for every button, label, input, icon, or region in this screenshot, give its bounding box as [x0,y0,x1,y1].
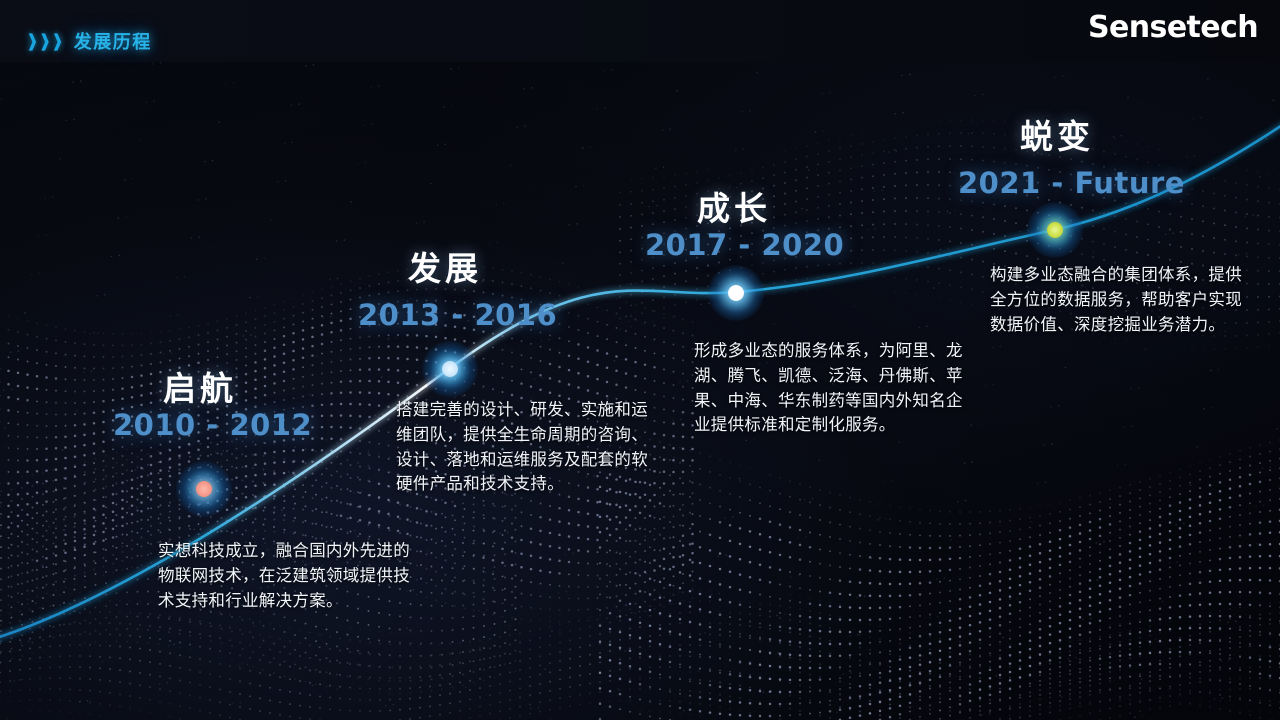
milestone-node-3[interactable] [708,265,764,321]
milestone-1-description: 实想科技成立，融合国内外先进的物联网技术，在泛建筑领域提供技术支持和行业解决方案… [158,539,416,613]
triple-chevron-right-icon: ❱❱❱ [26,34,63,49]
slide-canvas: ❱❱❱ 发展历程 Sensetech [0,0,1280,720]
milestone-4-title: 蜕变 [1020,110,1094,158]
milestone-2-title: 发展 [408,242,482,290]
milestone-4-description: 构建多业态融合的集团体系，提供全方位的数据服务，帮助客户实现数据价值、深度挖掘业… [990,263,1252,337]
milestone-1-title: 启航 [163,362,237,410]
milestone-2-years: 2013 - 2016 [358,298,557,332]
milestone-node-4[interactable] [1027,202,1083,258]
milestone-2-description: 搭建完善的设计、研发、实施和运维团队，提供全生命周期的咨询、设计、落地和运维服务… [396,398,648,497]
milestone-node-1[interactable] [176,461,232,517]
header-inner: ❱❱❱ 发展历程 [26,28,152,54]
node-core-icon [1047,222,1063,238]
milestone-node-2[interactable] [422,341,478,397]
page-title: 发展历程 [74,28,152,54]
node-core-icon [728,285,744,301]
node-core-icon [196,481,212,497]
brand-logo: Sensetech [1088,10,1258,45]
milestone-3-description: 形成多业态的服务体系，为阿里、龙湖、腾飞、凯德、泛海、丹佛斯、苹果、中海、华东制… [694,339,969,438]
node-core-icon [442,361,458,377]
milestone-4-years: 2021 - Future [958,166,1185,200]
milestone-1-years: 2010 - 2012 [113,408,312,442]
milestone-3-title: 成长 [697,182,771,230]
milestone-3-years: 2017 - 2020 [645,228,844,262]
